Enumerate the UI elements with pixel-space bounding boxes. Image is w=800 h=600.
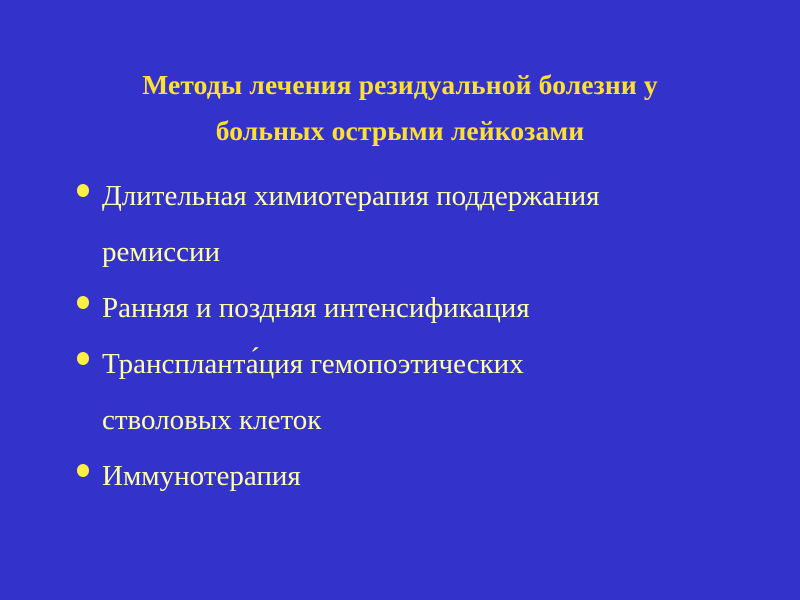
list-item-line: стволовых клеток <box>102 392 774 448</box>
bullet-circle-icon <box>77 464 89 477</box>
list-item-line: Ранняя и поздняя интенсификация <box>102 280 774 336</box>
bullet-list: Длительная химиотерапия поддержания реми… <box>74 168 774 504</box>
bullet-circle-icon <box>77 184 89 197</box>
list-item-line: Иммунотерапия <box>102 448 774 504</box>
slide-title-line-1: Методы лечения резидуальной болезни у <box>60 62 740 108</box>
list-item: Транспланта́ция гемопоэтических стволовы… <box>74 336 774 448</box>
bullet-circle-icon <box>77 296 89 309</box>
list-item-label: Транспланта́ция гемопоэтических стволовы… <box>102 336 774 448</box>
list-item-label: Иммунотерапия <box>102 448 774 504</box>
list-item: Ранняя и поздняя интенсификация <box>74 280 774 336</box>
bullet-circle-icon <box>77 352 89 365</box>
presentation-slide: Методы лечения резидуальной болезни у бо… <box>0 0 800 600</box>
list-item-line: Транспланта́ция гемопоэтических <box>102 336 774 392</box>
list-item-label: Ранняя и поздняя интенсификация <box>102 280 774 336</box>
list-item-label: Длительная химиотерапия поддержания реми… <box>102 168 774 280</box>
list-item-line: ремиссии <box>102 224 774 280</box>
list-item: Иммунотерапия <box>74 448 774 504</box>
list-item-line: Длительная химиотерапия поддержания <box>102 168 774 224</box>
list-item: Длительная химиотерапия поддержания реми… <box>74 168 774 280</box>
slide-title: Методы лечения резидуальной болезни у бо… <box>60 62 740 154</box>
slide-title-line-2: больных острыми лейкозами <box>60 108 740 154</box>
